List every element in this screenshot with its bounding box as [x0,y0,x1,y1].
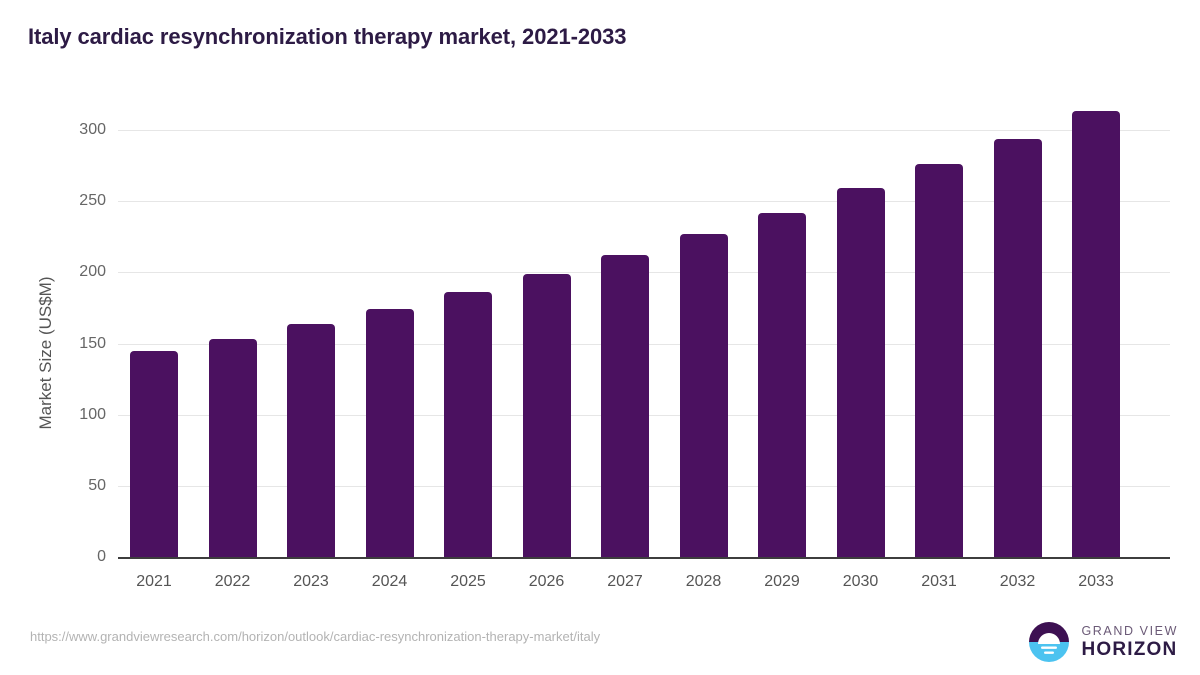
x-tick-label-2032: 2032 [1000,573,1036,591]
logo-line-grand-view: GRAND VIEW [1081,625,1178,638]
bar-2026[interactable] [523,274,571,557]
x-tick-label-2024: 2024 [372,573,408,591]
bar-2025[interactable] [444,292,492,557]
source-url[interactable]: https://www.grandviewresearch.com/horizo… [30,629,600,644]
horizon-circle-icon [1027,620,1071,664]
brand-logo[interactable]: GRAND VIEW HORIZON [1027,618,1178,666]
x-tick-label-2029: 2029 [764,573,800,591]
x-tick-label-2021: 2021 [136,573,172,591]
logo-text: GRAND VIEW HORIZON [1081,625,1178,660]
x-tick-label-2031: 2031 [921,573,957,591]
bar-2027[interactable] [601,255,649,557]
bar-2031[interactable] [915,164,963,557]
bar-2032[interactable] [994,139,1042,557]
bar-2022[interactable] [209,339,257,557]
x-tick-label-2025: 2025 [450,573,486,591]
bar-2033[interactable] [1072,111,1120,557]
bar-2021[interactable] [130,351,178,557]
x-tick-label-2022: 2022 [215,573,251,591]
x-tick-label-2026: 2026 [529,573,565,591]
x-tick-label-2030: 2030 [843,573,879,591]
bar-2023[interactable] [287,324,335,557]
logo-line-horizon: HORIZON [1081,640,1178,659]
bar-2030[interactable] [837,188,885,557]
x-tick-label-2028: 2028 [686,573,722,591]
bar-2029[interactable] [758,213,806,557]
chart-page: Italy cardiac resynchronization therapy … [0,0,1200,675]
x-tick-label-2027: 2027 [607,573,643,591]
bar-2024[interactable] [366,309,414,557]
bar-2028[interactable] [680,234,728,557]
x-tick-label-2033: 2033 [1078,573,1114,591]
chart-plot-area: Market Size (US$M) 050100150200250300 20… [0,0,1200,675]
x-tick-label-2023: 2023 [293,573,329,591]
